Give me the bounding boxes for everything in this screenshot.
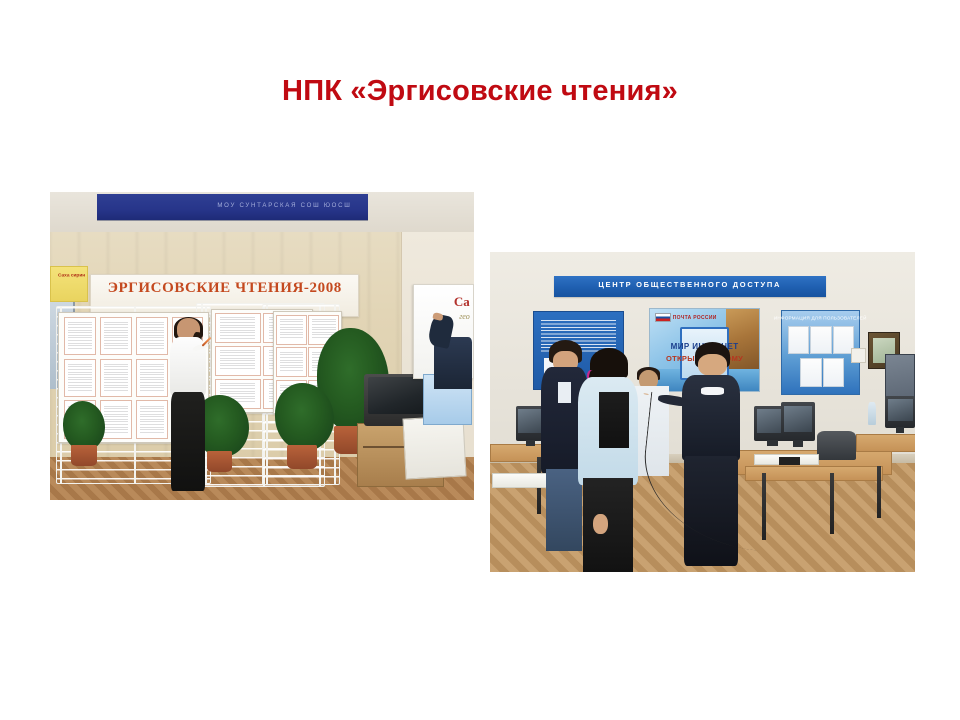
visitor-hands (593, 514, 608, 534)
page-title: НПК «Эргисовские чтения» (0, 74, 960, 108)
visitor-shirt (558, 382, 571, 403)
potted-plant (63, 401, 105, 450)
desk-leg (877, 466, 881, 517)
student-arm (192, 342, 209, 352)
side-poster-line1: Са (454, 294, 470, 310)
public-access-center-photo: ЦЕНТР ОБЩЕСТВЕННОГО ДОСТУПА ПОЧТА РОССИИ… (490, 252, 915, 572)
student-presenter (162, 318, 213, 490)
pointer-stick (201, 336, 211, 346)
event-banner-text: ЭРГИСОВСКИЕ ЧТЕНИЯ-2008 (91, 280, 358, 297)
man-hand (432, 313, 443, 321)
poster-session-photo: МОУ СУНТАРСКАЯ СОШ ЮОСШ Саха сирин ЭРГИС… (50, 192, 474, 500)
board-document (800, 358, 821, 387)
water-bottle (868, 402, 876, 424)
center-name-banner: ЦЕНТР ОБЩЕСТВЕННОГО ДОСТУПА (554, 276, 826, 297)
plant-pot (71, 445, 96, 467)
visitor-young-woman (575, 348, 643, 572)
center-name-banner-text: ЦЕНТР ОБЩЕСТВЕННОГО ДОСТУПА (554, 280, 826, 289)
user-information-board-title: ИНФОРМАЦИЯ ДЛЯ ПОЛЬЗОВАТЕЛЕЙ (769, 315, 872, 320)
board-document (810, 326, 831, 355)
overhead-blue-banner: МОУ СУНТАРСКАЯ СОШ ЮОСШ (97, 194, 368, 221)
student-skirt (171, 392, 205, 490)
photo-right-content: ЦЕНТР ОБЩЕСТВЕННОГО ДОСТУПА ПОЧТА РОССИИ… (490, 252, 915, 572)
presentation-slide: НПК «Эргисовские чтения» МОУ СУНТАРСКАЯ … (0, 0, 960, 720)
photo-left-content: МОУ СУНТАРСКАЯ СОШ ЮОСШ Саха сирин ЭРГИС… (50, 192, 474, 500)
wall-switch[interactable] (851, 348, 866, 363)
russian-post-logo-text: ПОЧТА РОССИИ (673, 315, 717, 321)
staff-collar (701, 387, 724, 395)
staff-face (698, 354, 727, 376)
computer-desk (856, 434, 916, 452)
potted-plant (275, 383, 334, 451)
board-document (823, 358, 844, 387)
plant-pot (287, 445, 317, 470)
user-information-board: ИНФОРМАЦИЯ ДЛЯ ПОЛЬЗОВАТЕЛЕЙ (781, 310, 860, 395)
overhead-blue-banner-text: МОУ СУНТАРСКАЯ СОШ ЮОСШ (218, 201, 352, 208)
student-blouse (170, 337, 206, 396)
visitor-trousers (583, 478, 633, 572)
russian-post-logo: ПОЧТА РОССИИ (655, 311, 724, 324)
visitor-blouse (578, 377, 638, 485)
board-document (788, 326, 809, 355)
visitor-vest (599, 392, 629, 448)
man-adjusting-poster (430, 309, 472, 389)
russian-flag-icon (655, 313, 671, 322)
computer-monitor (885, 396, 915, 428)
